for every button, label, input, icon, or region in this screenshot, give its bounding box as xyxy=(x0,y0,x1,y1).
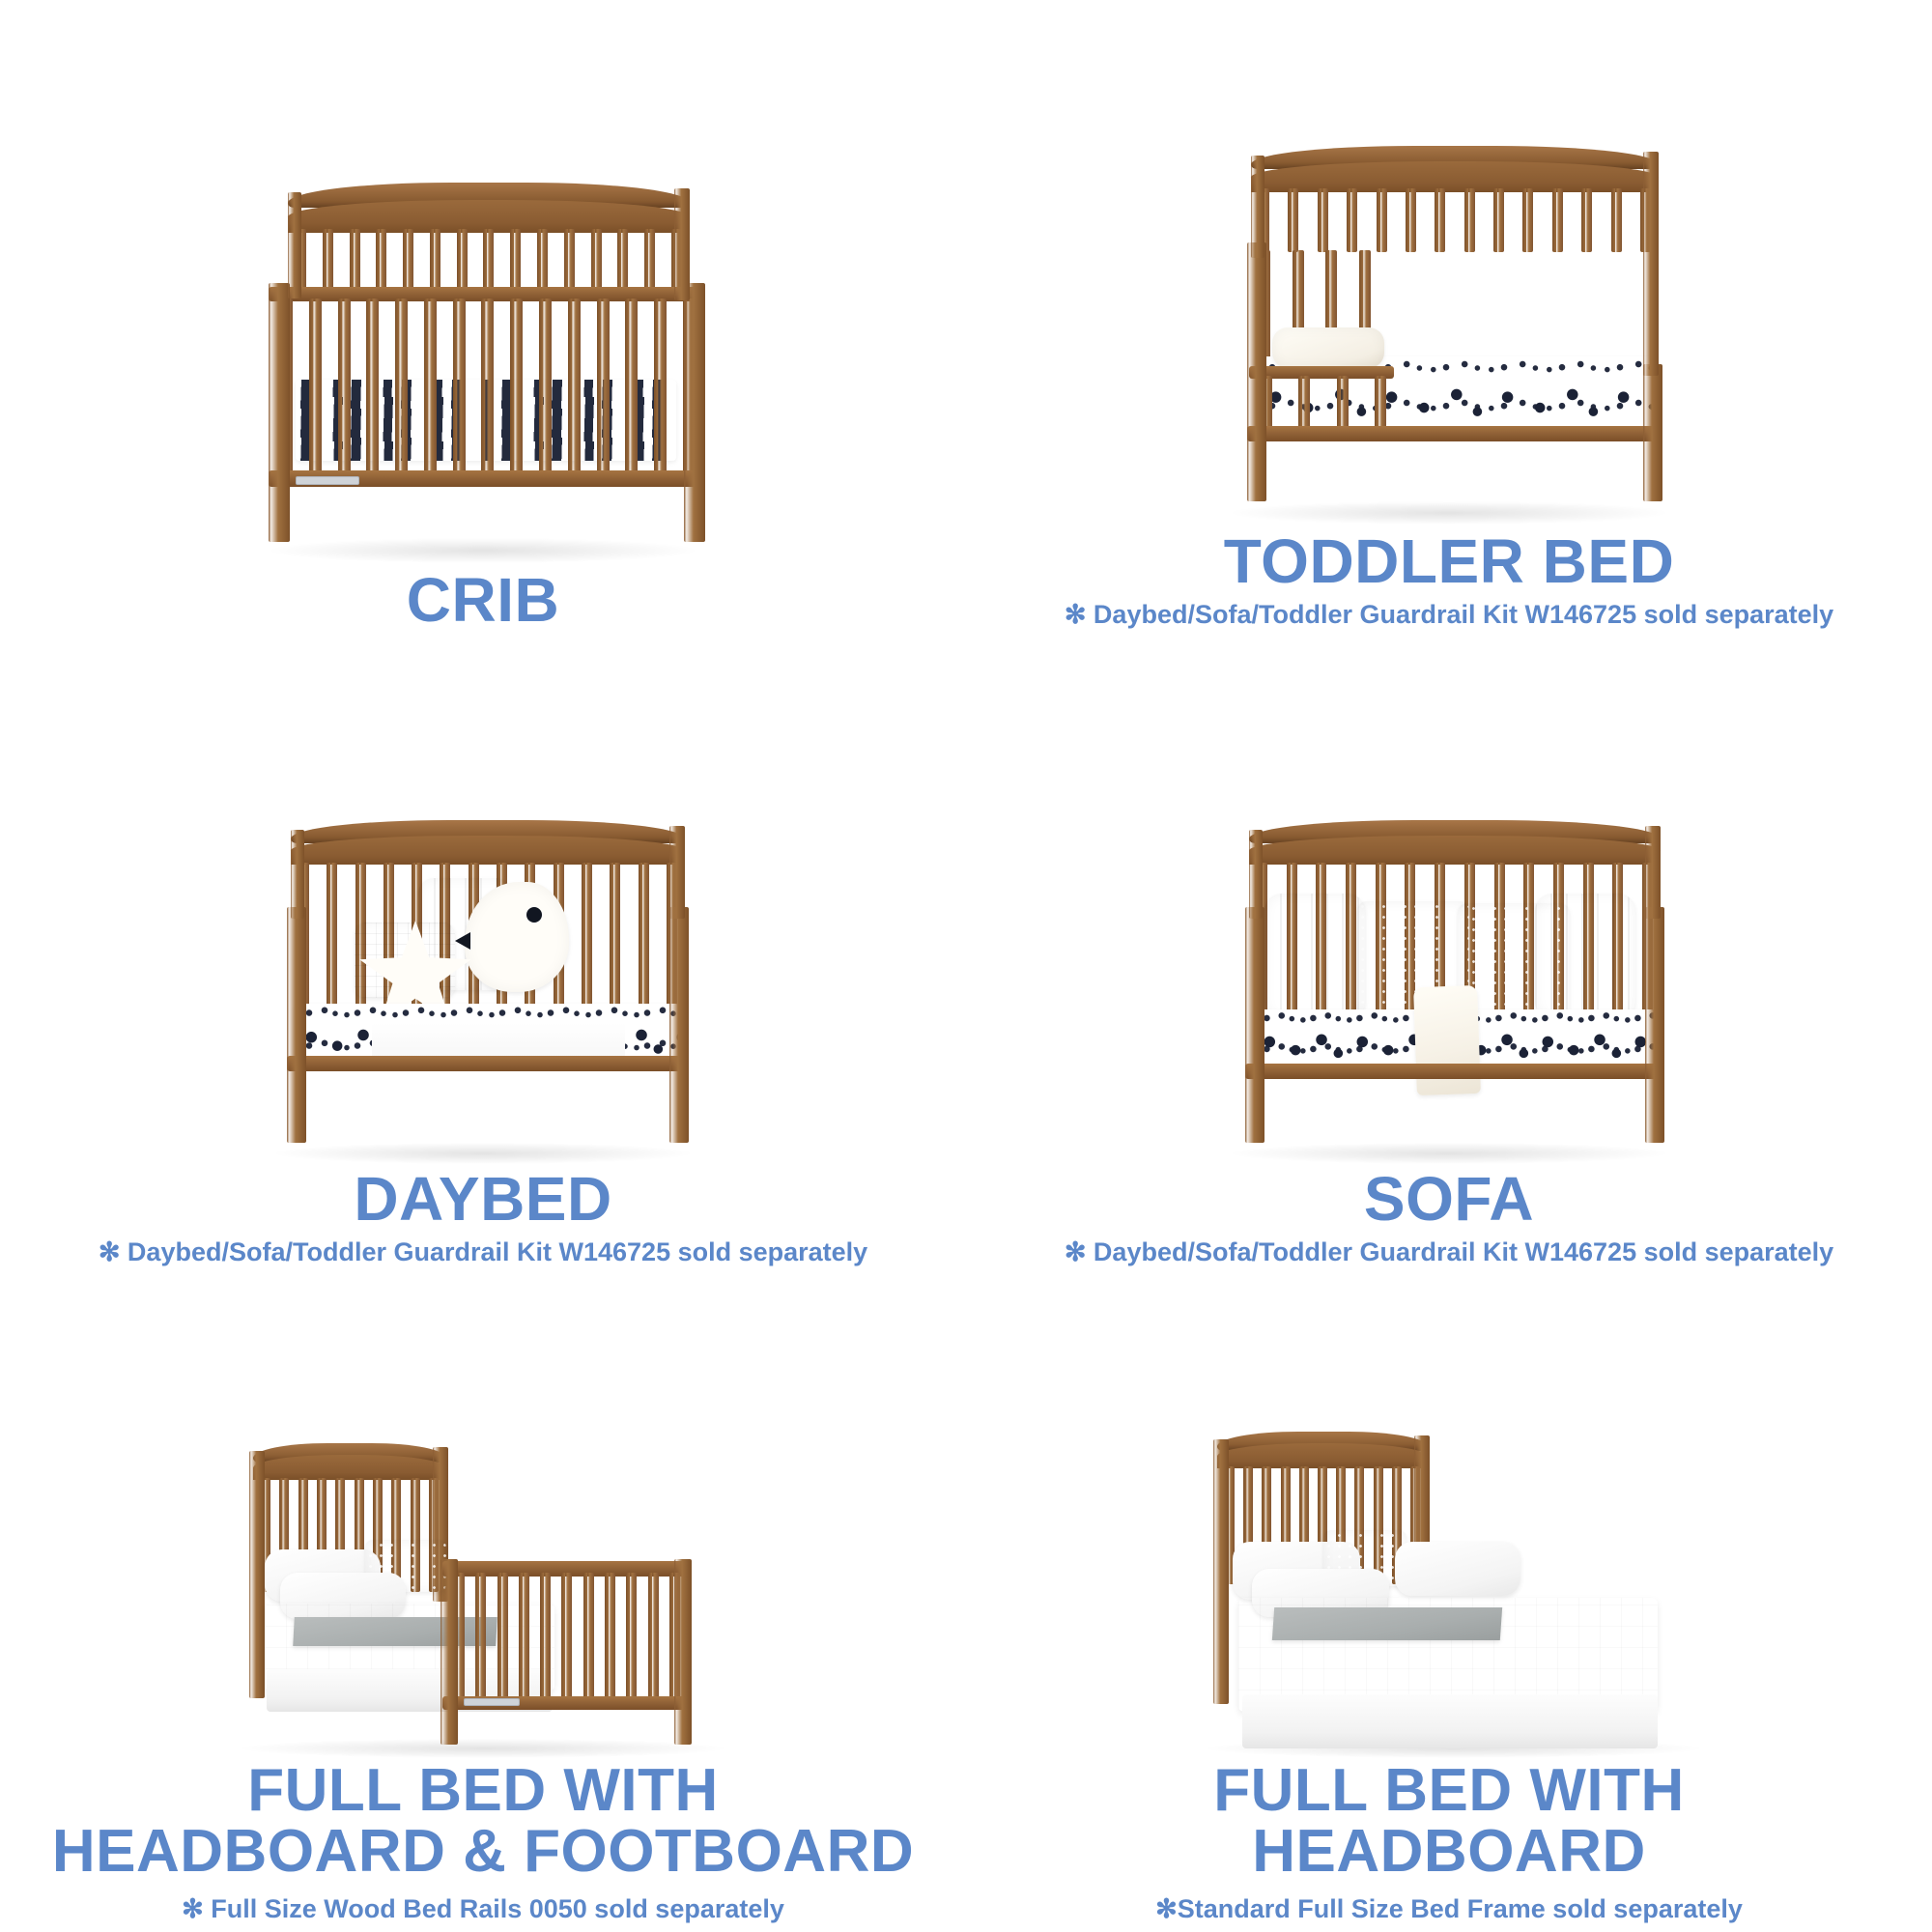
sofa-pillow-cream-left xyxy=(1264,894,1365,1019)
toddler-headboard-left-post xyxy=(1251,156,1264,258)
floor-shadow xyxy=(241,1739,724,1758)
sofa-captions: SOFA ✻ Daybed/Sofa/Toddler Guardrail Kit… xyxy=(966,1168,1932,1275)
panel-subtitle: ✻ Daybed/Sofa/Toddler Guardrail Kit W146… xyxy=(966,1236,1932,1269)
full-bed-hb-fb-illustration xyxy=(222,1437,744,1756)
crib-image xyxy=(0,0,966,569)
fullbed-headboard-left-post xyxy=(249,1451,265,1698)
toddler-bed-image xyxy=(966,0,1932,530)
crib-right-post xyxy=(684,283,705,542)
crib-back-slats xyxy=(296,229,682,291)
sofa-back-right-post xyxy=(1645,826,1661,919)
daybed-illustration xyxy=(266,814,700,1162)
daybed-front-rail xyxy=(287,1056,689,1071)
full-bed-hb-fb-image xyxy=(0,1275,966,1760)
panel-title: TODDLER BED xyxy=(966,530,1932,593)
hb-panel xyxy=(1217,1443,1428,1468)
floor-shadow xyxy=(275,1143,691,1164)
toddler-pillow xyxy=(1272,327,1384,368)
sofa-image xyxy=(966,638,1932,1168)
daybed-right-post xyxy=(669,907,689,1143)
panel-daybed: DAYBED ✻ Daybed/Sofa/Toddler Guardrail K… xyxy=(0,638,966,1275)
sofa-back-panel xyxy=(1249,836,1661,865)
panel-full-bed-headboard: FULL BED WITH HEADBOARD ✻Standard Full S… xyxy=(966,1275,1932,1932)
hb-left-post xyxy=(1213,1439,1229,1704)
sofa-front-rail xyxy=(1245,1064,1664,1079)
toddler-headboard-right-post xyxy=(1643,152,1659,376)
toddler-left-post xyxy=(1247,242,1266,501)
panel-sofa: SOFA ✻ Daybed/Sofa/Toddler Guardrail Kit… xyxy=(966,638,1932,1275)
guardrail-slats xyxy=(1261,376,1386,430)
hb-pillow-white-far xyxy=(1395,1542,1520,1596)
panel-subtitle: ✻ Daybed/Sofa/Toddler Guardrail Kit W146… xyxy=(966,599,1932,632)
full-bed-hb-captions: FULL BED WITH HEADBOARD ✻Standard Full S… xyxy=(966,1760,1932,1932)
daybed-left-post xyxy=(287,907,306,1143)
sofa-right-post xyxy=(1645,907,1664,1143)
sofa-left-post xyxy=(1245,907,1264,1143)
toddler-headboard-slats xyxy=(1259,188,1651,252)
floor-shadow xyxy=(270,538,696,563)
full-bed-hb-image xyxy=(966,1275,1932,1760)
panel-subtitle: ✻ Full Size Wood Bed Rails 0050 sold sep… xyxy=(0,1893,966,1926)
panel-full-bed-headboard-footboard: FULL BED WITH HEADBOARD & FOOTBOARD ✻ Fu… xyxy=(0,1275,966,1932)
fullbed-footboard-slats xyxy=(454,1573,680,1702)
brand-plate xyxy=(296,476,359,485)
fullbed-headboard-panel xyxy=(253,1455,446,1480)
panel-title: FULL BED WITH HEADBOARD & FOOTBOARD xyxy=(0,1760,966,1882)
toddler-right-post xyxy=(1643,364,1662,501)
fullbed-footboard-left-post xyxy=(440,1559,458,1745)
panel-title: SOFA xyxy=(966,1168,1932,1231)
full-bed-hb-fb-captions: FULL BED WITH HEADBOARD & FOOTBOARD ✻ Fu… xyxy=(0,1760,966,1932)
daybed-captions: DAYBED ✻ Daybed/Sofa/Toddler Guardrail K… xyxy=(0,1168,966,1275)
toddler-bed-illustration xyxy=(1222,136,1676,523)
panel-crib: CRIB xyxy=(0,0,966,638)
panel-title: CRIB xyxy=(0,569,966,632)
toddler-bed-captions: TODDLER BED ✻ Daybed/Sofa/Toddler Guardr… xyxy=(966,530,1932,638)
floor-shadow xyxy=(1232,501,1666,525)
daybed-image xyxy=(0,638,966,1168)
floor-shadow xyxy=(1232,1143,1666,1164)
daybed-back-left-post xyxy=(291,830,304,919)
full-bed-hb-illustration xyxy=(1179,1428,1719,1756)
crib-captions: CRIB xyxy=(0,569,966,638)
panel-title: DAYBED xyxy=(0,1168,966,1231)
sofa-illustration xyxy=(1222,814,1676,1162)
daybed-back-panel xyxy=(291,836,685,865)
crib-left-back-post xyxy=(288,192,301,298)
fullbed-footboard-right-post xyxy=(674,1559,692,1745)
daybed-back-right-post xyxy=(669,826,685,919)
swan-beak-icon xyxy=(455,932,470,950)
crib-front-slats xyxy=(280,298,696,474)
toddler-front-rail xyxy=(1247,426,1662,441)
panel-subtitle: ✻Standard Full Size Bed Frame sold separ… xyxy=(966,1893,1932,1926)
sofa-back-left-post xyxy=(1249,830,1263,919)
hb-gray-runner xyxy=(1272,1607,1502,1640)
hb-boxspring xyxy=(1242,1694,1658,1748)
panel-title: FULL BED WITH HEADBOARD xyxy=(966,1760,1932,1882)
sofa-pillow-cream-right xyxy=(1535,894,1635,1019)
crib-back-panel xyxy=(288,200,690,233)
crib-left-post xyxy=(269,283,290,542)
crib-illustration xyxy=(261,175,705,561)
swan-eye-icon xyxy=(526,907,542,923)
brand-plate xyxy=(464,1698,520,1706)
panel-toddler-bed: TODDLER BED ✻ Daybed/Sofa/Toddler Guardr… xyxy=(966,0,1932,638)
panel-subtitle: ✻ Daybed/Sofa/Toddler Guardrail Kit W146… xyxy=(0,1236,966,1269)
swan-pillow xyxy=(465,882,569,992)
conversion-options-grid: CRIB xyxy=(0,0,1932,1932)
crib-right-back-post xyxy=(674,188,690,300)
